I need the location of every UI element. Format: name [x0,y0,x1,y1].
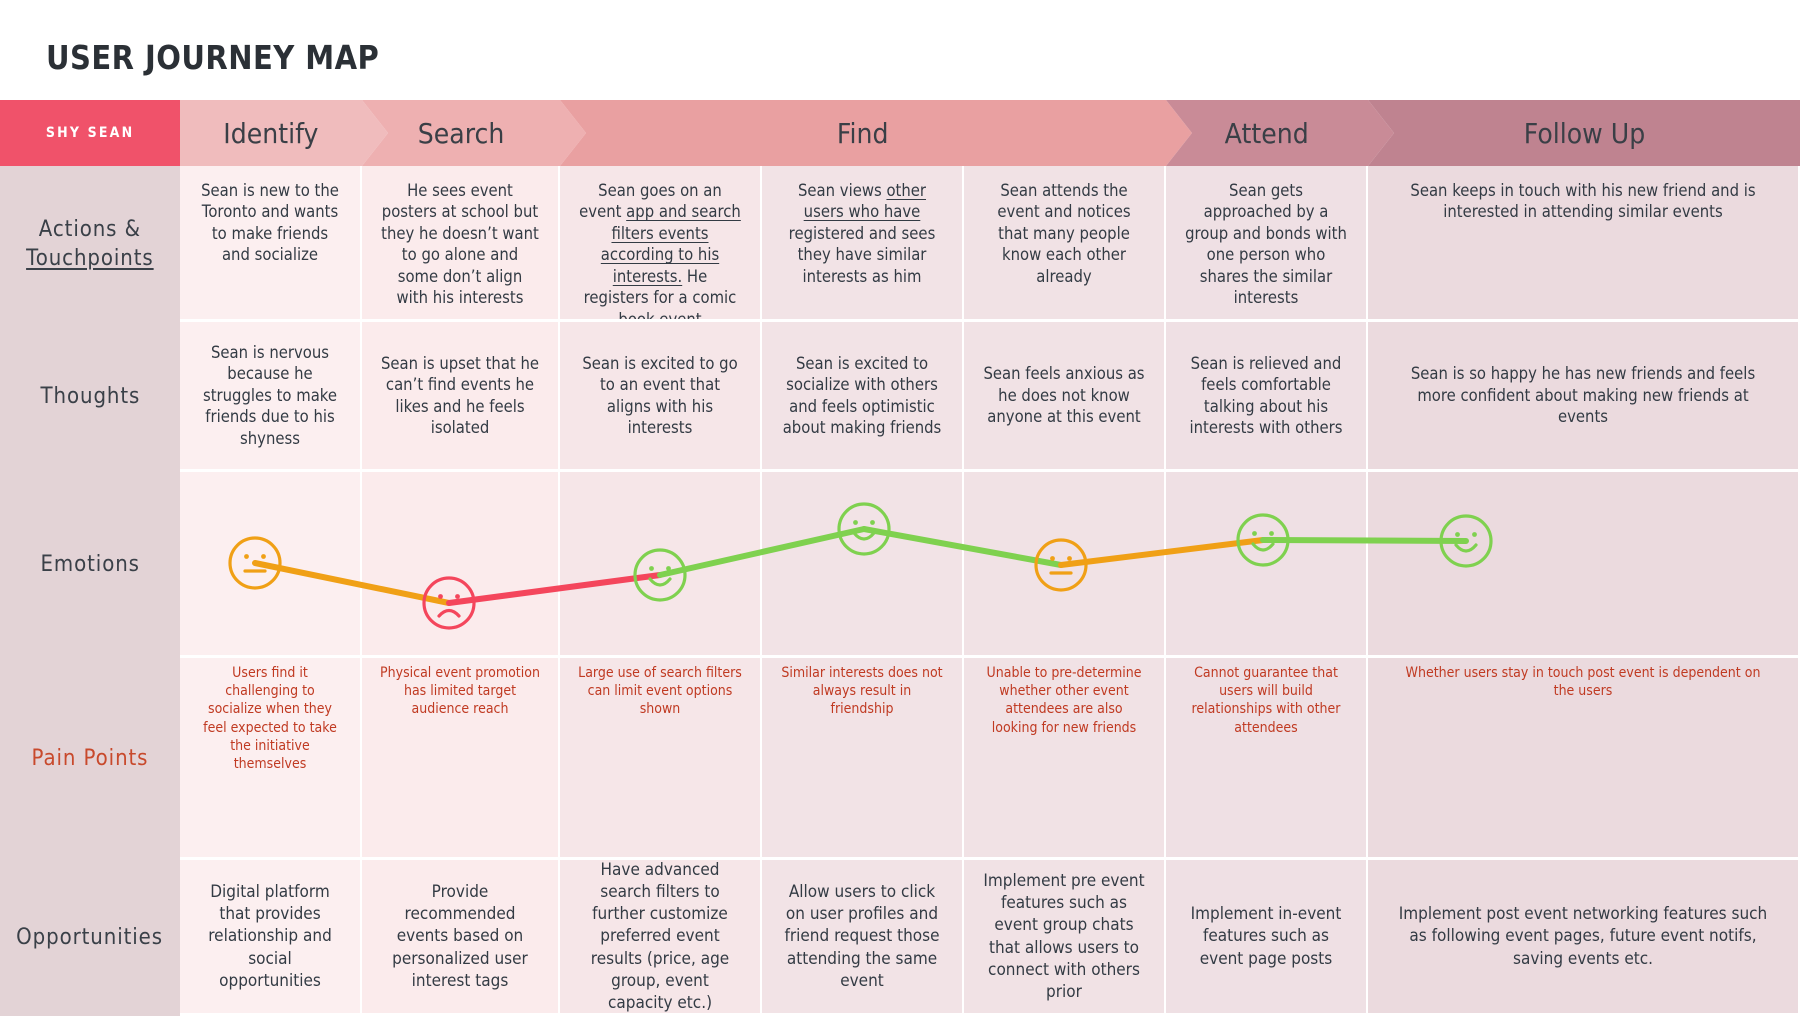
cell-text-thoughts: Sean is excited to socialize with others… [780,353,944,439]
persona-label: SHY SEAN [46,125,134,141]
cell-actions-2: He sees event posters at school but they… [362,166,560,322]
cell-pain-6: Cannot guarantee that users will build r… [1166,658,1368,860]
cell-emotions-6 [1166,472,1368,658]
cell-thoughts-4: Sean is excited to socialize with others… [762,322,964,472]
cell-pain-7: Whether users stay in touch post event i… [1368,658,1800,860]
cell-emotions-1 [180,472,362,658]
cell-text-pain: Cannot guarantee that users will build r… [1184,664,1348,737]
cell-text-opps: Provide recommended events based on pers… [380,881,540,991]
cell-pain-2: Physical event promotion has limited tar… [362,658,560,860]
user-journey-map-page: USER JOURNEY MAP SHY SEAN IdentifySearch… [0,0,1800,1016]
cell-text-pain: Unable to pre-determine whether other ev… [982,664,1146,737]
stage-tab-attend[interactable]: Attend [1166,100,1368,166]
row-label-line1: Emotions [40,552,139,577]
cell-thoughts-1: Sean is nervous because he struggles to … [180,322,362,472]
cell-text-opps: Implement in-event features such as even… [1184,903,1348,969]
stage-tab-search[interactable]: Search [362,100,560,166]
cell-pain-1: Users find it challenging to socialize w… [180,658,362,860]
cell-actions-7: Sean keeps in touch with his new friend … [1368,166,1800,322]
stage-header-row: SHY SEAN IdentifySearchFindAttendFollow … [0,100,1800,166]
row-label-opps: Opportunities [0,860,180,1016]
stage-tab-find[interactable]: Find [560,100,1166,166]
cell-text-opps: Have advanced search filters to further … [578,860,742,1014]
cell-text-actions: Sean gets approached by a group and bond… [1184,180,1348,309]
persona-badge: SHY SEAN [0,100,180,166]
cell-pain-4: Similar interests does not always result… [762,658,964,860]
cell-opps-5: Implement pre event features such as eve… [964,860,1166,1016]
cell-actions-6: Sean gets approached by a group and bond… [1166,166,1368,322]
cell-thoughts-3: Sean is excited to go to an event that a… [560,322,762,472]
row-label-line1: Thoughts [40,384,140,409]
cell-text-thoughts: Sean is relieved and feels comfortable t… [1184,353,1348,439]
cell-emotions-5 [964,472,1166,658]
cell-text-actions: He sees event posters at school but they… [380,180,540,309]
cell-pain-5: Unable to pre-determine whether other ev… [964,658,1166,860]
stage-label: Attend [1225,117,1309,150]
cell-opps-7: Implement post event networking features… [1368,860,1800,1016]
cell-thoughts-6: Sean is relieved and feels comfortable t… [1166,322,1368,472]
row-label-line2: Touchpoints [26,246,154,271]
cell-actions-1: Sean is new to the Toronto and wants to … [180,166,362,322]
cell-text-pain: Large use of search filters can limit ev… [578,664,742,719]
cell-opps-4: Allow users to click on user profiles an… [762,860,964,1016]
cell-text-thoughts: Sean is so happy he has new friends and … [1398,363,1769,427]
cell-thoughts-7: Sean is so happy he has new friends and … [1368,322,1800,472]
cell-text-thoughts: Sean is nervous because he struggles to … [197,342,343,449]
cell-pain-3: Large use of search filters can limit ev… [560,658,762,860]
cell-thoughts-2: Sean is upset that he can’t find events … [362,322,560,472]
cell-text-thoughts: Sean feels anxious as he does not know a… [982,363,1146,427]
cell-text-pain: Users find it challenging to socialize w… [197,664,343,773]
cell-emotions-3 [560,472,762,658]
cell-text-opps: Implement post event networking features… [1398,903,1769,969]
cell-text-opps: Allow users to click on user profiles an… [780,881,944,991]
cell-text-actions: Sean goes on an event app and search fil… [578,180,742,322]
cell-emotions-2 [362,472,560,658]
cell-text-actions: Sean attends the event and notices that … [982,180,1146,287]
cell-actions-5: Sean attends the event and notices that … [964,166,1166,322]
cell-text-actions: Sean keeps in touch with his new friend … [1398,180,1769,223]
cell-actions-3: Sean goes on an event app and search fil… [560,166,762,322]
stage-tab-identify[interactable]: Identify [180,100,362,166]
journey-grid: SHY SEAN IdentifySearchFindAttendFollow … [0,100,1800,1016]
cell-emotions-4 [762,472,964,658]
row-label-emotions: Emotions [0,472,180,658]
row-label-thoughts: Thoughts [0,322,180,472]
cell-text-pain: Physical event promotion has limited tar… [380,664,540,719]
cell-actions-4: Sean views other users who have register… [762,166,964,322]
cell-text-opps: Digital platform that provides relations… [197,881,343,991]
row-label-actions: Actions &Touchpoints [0,166,180,322]
stage-label: Identify [223,117,318,150]
row-label-line1: Actions & [39,217,141,242]
cell-text-thoughts: Sean is excited to go to an event that a… [578,353,742,439]
cell-text-thoughts: Sean is upset that he can’t find events … [380,353,540,439]
row-label-line1: Opportunities [17,925,164,950]
cell-emotions-7 [1368,472,1800,658]
cell-thoughts-5: Sean feels anxious as he does not know a… [964,322,1166,472]
stage-label: Search [418,117,505,150]
cell-text-actions: Sean is new to the Toronto and wants to … [197,180,343,266]
cell-opps-1: Digital platform that provides relations… [180,860,362,1016]
row-label-pain: Pain Points [0,658,180,860]
cell-opps-2: Provide recommended events based on pers… [362,860,560,1016]
stage-label: Find [837,117,889,150]
cell-opps-6: Implement in-event features such as even… [1166,860,1368,1016]
cell-text-pain: Similar interests does not always result… [780,664,944,719]
cell-text-actions: Sean views other users who have register… [780,180,944,287]
stage-tab-follow-up[interactable]: Follow Up [1368,100,1800,166]
cell-text-pain: Whether users stay in touch post event i… [1398,664,1769,700]
page-title: USER JOURNEY MAP [46,38,379,77]
stage-label: Follow Up [1523,117,1645,150]
cell-opps-3: Have advanced search filters to further … [560,860,762,1016]
cell-text-opps: Implement pre event features such as eve… [982,870,1146,1003]
row-label-line1: Pain Points [32,746,149,771]
title-bar: USER JOURNEY MAP [0,0,1800,112]
